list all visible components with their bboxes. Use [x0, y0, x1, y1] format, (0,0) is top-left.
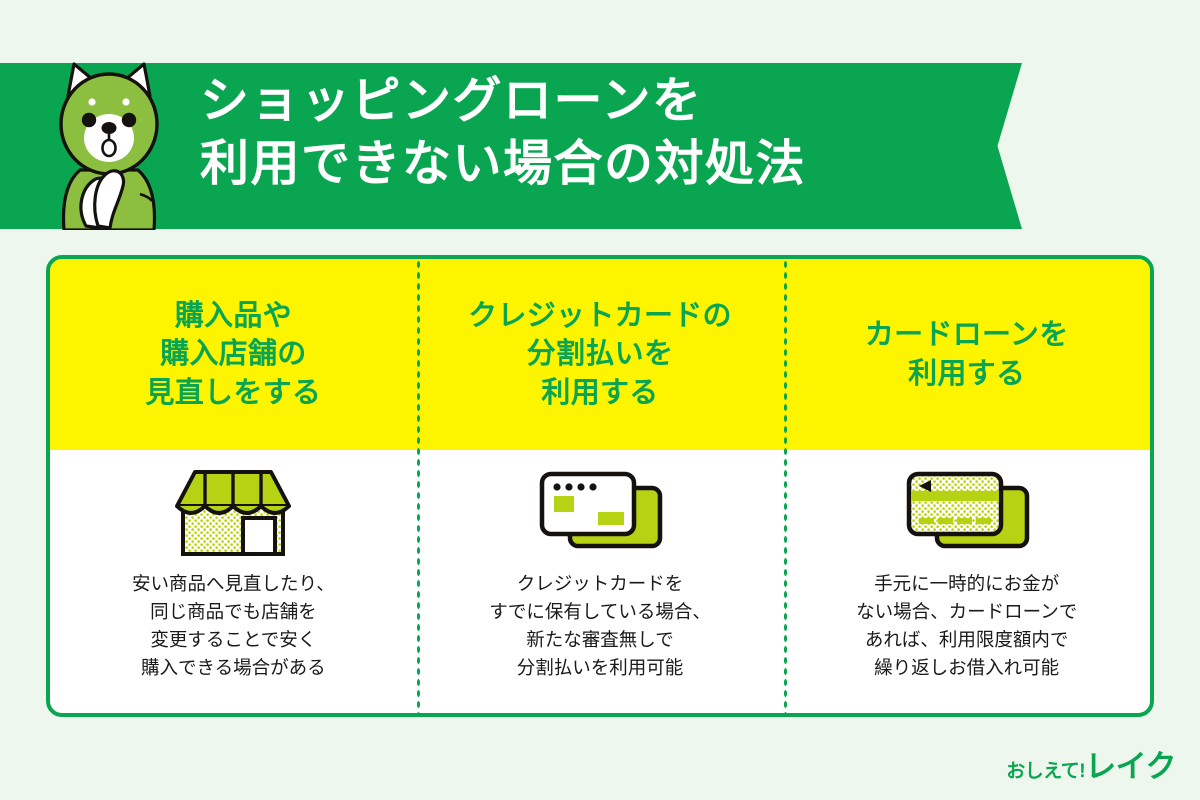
- solution-columns: 購入品や 購入店舗の 見直しをする: [50, 259, 1150, 713]
- lake-dog-mascot-icon: [48, 58, 170, 230]
- solution-column-2: クレジットカードの 分割払いを 利用する: [417, 259, 784, 713]
- logo-prefix-text: おしえて!: [1006, 756, 1085, 783]
- infographic-root: ショッピングローンを 利用できない場合の対処法 購入品や 購入店舗の 見直しをす…: [0, 0, 1200, 800]
- lake-logo: おしえて! レイク: [1006, 741, 1176, 786]
- column-3-heading: カードローンを 利用する: [783, 259, 1150, 450]
- credit-cards-icon: [417, 450, 784, 570]
- solution-column-1: 購入品や 購入店舗の 見直しをする: [50, 259, 417, 713]
- column-2-heading: クレジットカードの 分割払いを 利用する: [417, 259, 784, 450]
- column-3-heading-text: カードローンを 利用する: [865, 316, 1069, 393]
- logo-brand-text: レイク: [1085, 741, 1176, 786]
- column-1-heading-text: 購入品や 購入店舗の 見直しをする: [145, 297, 321, 412]
- column-1-heading: 購入品や 購入店舗の 見直しをする: [50, 259, 417, 450]
- column-divider-2: [783, 259, 788, 713]
- solutions-card: 購入品や 購入店舗の 見直しをする: [46, 255, 1154, 717]
- column-3-body-text: 手元に一時的にお金が ない場合、カードローンで あれば、利用限度額内で 繰り返し…: [856, 570, 1077, 682]
- column-2-heading-text: クレジットカードの 分割払いを 利用する: [468, 297, 732, 412]
- column-2-body-text: クレジットカードを すでに保有している場合、 新たな審査無しで 分割払いを利用可…: [489, 570, 711, 682]
- column-divider-1: [416, 259, 421, 713]
- page-title: ショッピングローンを 利用できない場合の対処法: [200, 70, 1000, 195]
- loan-cards-icon: [783, 450, 1150, 570]
- column-1-body-text: 安い商品へ見直したり、 同じ商品でも店舗を 変更することで安く 購入できる場合が…: [132, 570, 335, 682]
- shop-storefront-icon: [50, 450, 417, 570]
- solution-column-3: カードローンを 利用する: [783, 259, 1150, 713]
